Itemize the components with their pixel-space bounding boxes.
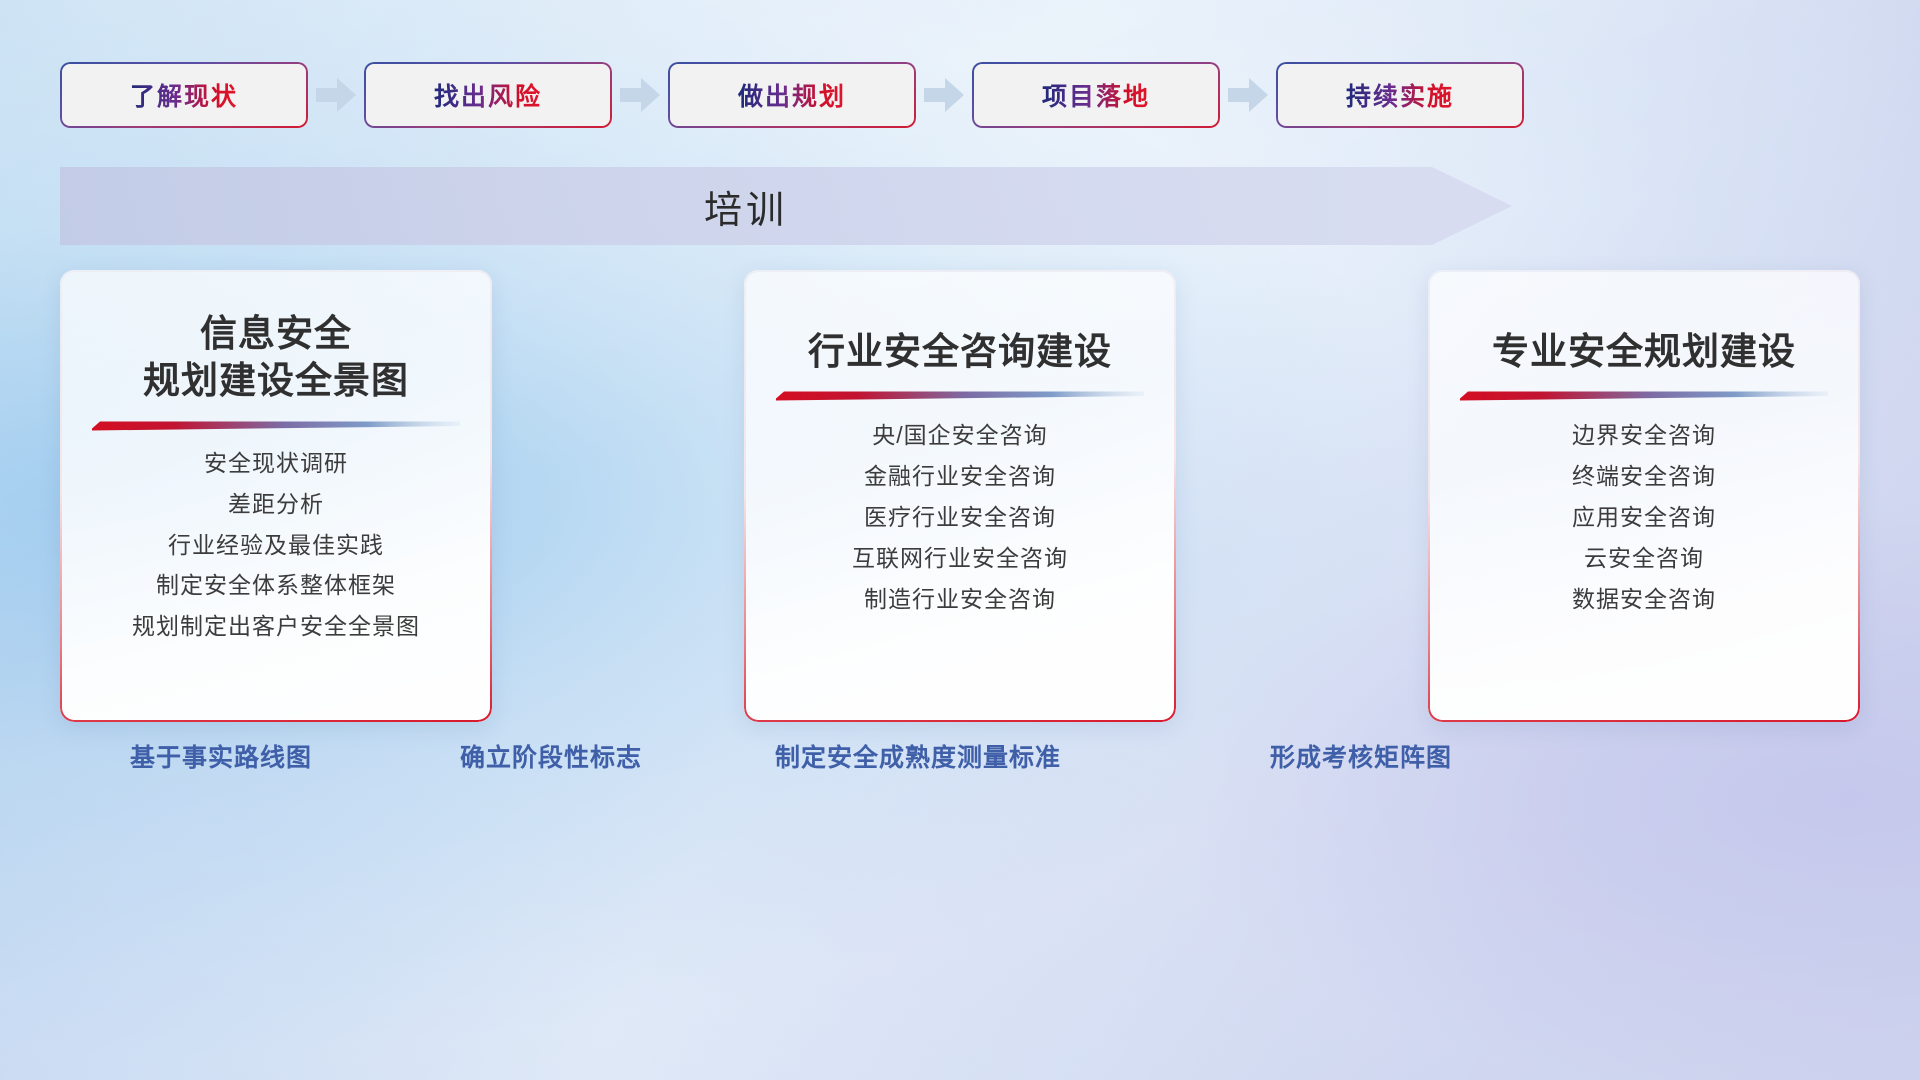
list-item: 终端安全咨询 (1572, 462, 1716, 492)
step-box-4[interactable]: 项目落地 (972, 62, 1220, 128)
step-box-5[interactable]: 持续实施 (1276, 62, 1524, 128)
list-item: 金融行业安全咨询 (864, 462, 1056, 492)
card-title: 行业安全咨询建设 (808, 328, 1112, 375)
card-1[interactable]: 信息安全 规划建设全景图安全现状调研差距分析行业经验及最佳实践制定安全体系整体框… (60, 270, 492, 722)
step-label: 了解现状 (130, 77, 238, 113)
list-item: 安全现状调研 (204, 449, 348, 479)
process-steps: 了解现状找出风险做出规划项目落地持续实施 (60, 60, 1860, 130)
list-item: 行业经验及最佳实践 (168, 531, 384, 561)
list-item: 制定安全体系整体框架 (156, 571, 396, 601)
card-divider (776, 389, 1144, 401)
step-label: 做出规划 (738, 77, 846, 113)
step-label: 持续实施 (1346, 77, 1454, 113)
card-list: 边界安全咨询终端安全咨询应用安全咨询云安全咨询数据安全咨询 (1572, 421, 1716, 614)
list-item: 云安全咨询 (1584, 544, 1704, 574)
list-item: 规划制定出客户安全全景图 (132, 612, 420, 642)
card-list: 央/国企安全咨询金融行业安全咨询医疗行业安全咨询互联网行业安全咨询制造行业安全咨… (852, 421, 1068, 614)
card-inner: 行业安全咨询建设央/国企安全咨询金融行业安全咨询医疗行业安全咨询互联网行业安全咨… (744, 270, 1176, 722)
list-item: 数据安全咨询 (1572, 585, 1716, 615)
bottom-label-1: 基于事实路线图 (130, 738, 312, 774)
arrow-right-icon (316, 75, 356, 115)
list-item: 应用安全咨询 (1572, 503, 1716, 533)
list-item: 医疗行业安全咨询 (864, 503, 1056, 533)
card-3[interactable]: 专业安全规划建设边界安全咨询终端安全咨询应用安全咨询云安全咨询数据安全咨询 (1428, 270, 1860, 722)
card-inner: 信息安全 规划建设全景图安全现状调研差距分析行业经验及最佳实践制定安全体系整体框… (60, 270, 492, 722)
training-banner: 培训 (60, 167, 1512, 245)
card-divider (92, 419, 460, 431)
step-label: 找出风险 (434, 77, 542, 113)
banner-title: 培训 (60, 167, 1432, 245)
arrow-right-icon (1228, 75, 1268, 115)
card-divider (1460, 389, 1828, 401)
bottom-label-4: 形成考核矩阵图 (1270, 738, 1452, 774)
arrow-right-icon (620, 75, 660, 115)
list-item: 互联网行业安全咨询 (852, 544, 1068, 574)
step-box-3[interactable]: 做出规划 (668, 62, 916, 128)
step-label: 项目落地 (1042, 77, 1150, 113)
list-item: 边界安全咨询 (1572, 421, 1716, 451)
bottom-label-3: 制定安全成熟度测量标准 (775, 738, 1061, 774)
list-item: 差距分析 (228, 490, 324, 520)
card-row: 信息安全 规划建设全景图安全现状调研差距分析行业经验及最佳实践制定安全体系整体框… (60, 270, 1860, 722)
card-title: 信息安全 规划建设全景图 (143, 310, 409, 405)
card-inner: 专业安全规划建设边界安全咨询终端安全咨询应用安全咨询云安全咨询数据安全咨询 (1428, 270, 1860, 722)
card-2[interactable]: 行业安全咨询建设央/国企安全咨询金融行业安全咨询医疗行业安全咨询互联网行业安全咨… (744, 270, 1176, 722)
list-item: 央/国企安全咨询 (872, 421, 1047, 451)
bottom-label-2: 确立阶段性标志 (460, 738, 642, 774)
step-box-2[interactable]: 找出风险 (364, 62, 612, 128)
list-item: 制造行业安全咨询 (864, 585, 1056, 615)
step-box-1[interactable]: 了解现状 (60, 62, 308, 128)
arrow-right-icon (924, 75, 964, 115)
card-title: 专业安全规划建设 (1492, 328, 1796, 375)
bottom-label-row: 基于事实路线图确立阶段性标志制定安全成熟度测量标准形成考核矩阵图 (60, 738, 1860, 784)
card-list: 安全现状调研差距分析行业经验及最佳实践制定安全体系整体框架规划制定出客户安全全景… (132, 449, 420, 642)
